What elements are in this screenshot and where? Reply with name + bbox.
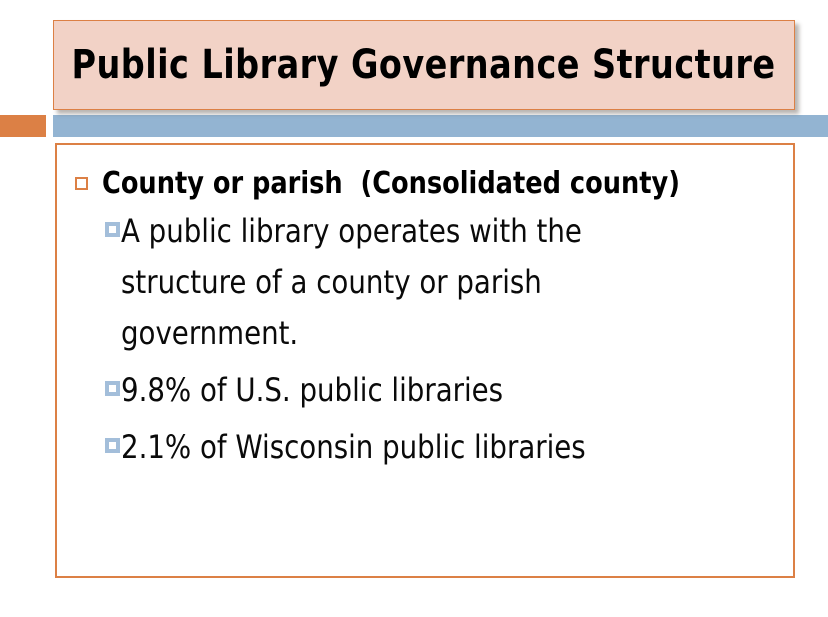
filled-square-bullet-icon	[105, 222, 120, 237]
hollow-square-bullet-icon	[75, 177, 88, 190]
slide-content-placeholder[interactable]: County or parish (Consolidated county) A…	[55, 143, 795, 578]
list-item[interactable]: County or parish (Consolidated county)	[65, 164, 781, 203]
bullet-level2-label: A public library operates with the struc…	[121, 206, 654, 359]
filled-square-bullet-icon	[105, 381, 120, 396]
bullet-list-level-1: County or parish (Consolidated county) A…	[65, 164, 781, 473]
slide-title-placeholder[interactable]: Public Library Governance Structure	[53, 20, 795, 110]
slide-canvas: Public Library Governance Structure Coun…	[0, 0, 828, 617]
bullet-list-level-2: A public library operates with the struc…	[65, 206, 781, 473]
filled-square-bullet-icon	[105, 438, 120, 453]
bullet-level2-label: 9.8% of U.S. public libraries	[121, 365, 503, 416]
list-item[interactable]: 9.8% of U.S. public libraries	[105, 365, 781, 416]
accent-square-orange	[0, 115, 46, 137]
bullet-level1-label: County or parish (Consolidated county)	[102, 164, 680, 203]
bullet-level2-label: 2.1% of Wisconsin public libraries	[121, 422, 586, 473]
accent-bar-blue	[53, 115, 828, 137]
list-item[interactable]: A public library operates with the struc…	[105, 206, 781, 359]
list-item[interactable]: 2.1% of Wisconsin public libraries	[105, 422, 781, 473]
page-title: Public Library Governance Structure	[72, 42, 776, 88]
